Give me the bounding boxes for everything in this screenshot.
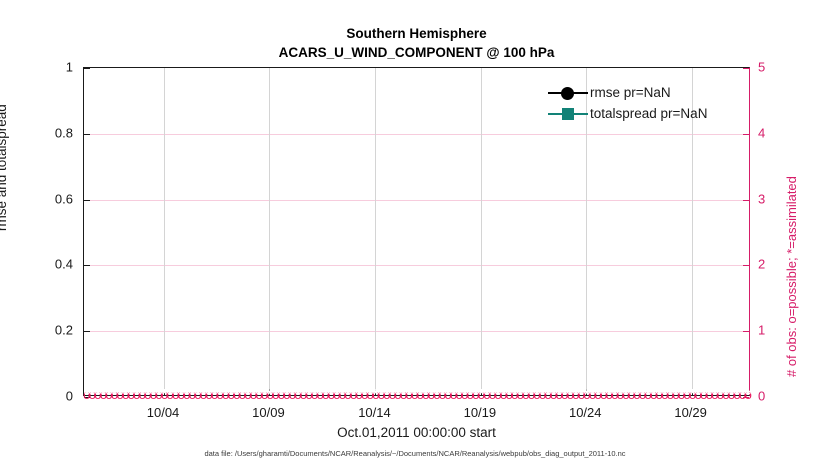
obs-assimilated-marker: * bbox=[493, 386, 504, 403]
obs-possible-marker: o bbox=[176, 386, 187, 403]
obs-possible-marker: o bbox=[548, 386, 559, 403]
grid-line-horizontal bbox=[84, 200, 749, 201]
obs-possible-marker: o bbox=[398, 386, 409, 403]
obs-assimilated-marker: * bbox=[87, 386, 98, 403]
obs-possible-marker: o bbox=[381, 386, 392, 403]
plot-screenshot: Southern Hemisphere ACARS_U_WIND_COMPONE… bbox=[0, 0, 830, 470]
obs-assimilated-marker: * bbox=[81, 386, 92, 403]
chart-title-line-1: Southern Hemisphere bbox=[83, 24, 750, 43]
square-marker-icon bbox=[562, 108, 574, 120]
obs-assimilated-marker: * bbox=[743, 386, 754, 403]
left-tick-label: 0.4 bbox=[29, 257, 73, 272]
obs-assimilated-marker: * bbox=[92, 386, 103, 403]
obs-possible-marker: o bbox=[304, 386, 315, 403]
obs-possible-marker: o bbox=[732, 386, 743, 403]
obs-possible-marker: o bbox=[598, 386, 609, 403]
obs-assimilated-marker: * bbox=[309, 386, 320, 403]
x-tick-label: 10/09 bbox=[252, 405, 285, 420]
obs-assimilated-marker: * bbox=[381, 386, 392, 403]
obs-possible-marker: o bbox=[409, 386, 420, 403]
obs-assimilated-marker: * bbox=[237, 386, 248, 403]
obs-possible-marker: o bbox=[498, 386, 509, 403]
obs-possible-marker: o bbox=[142, 386, 153, 403]
obs-possible-marker: o bbox=[448, 386, 459, 403]
obs-possible-marker: o bbox=[109, 386, 120, 403]
obs-possible-marker: o bbox=[237, 386, 248, 403]
obs-possible-marker: o bbox=[559, 386, 570, 403]
obs-possible-marker: o bbox=[98, 386, 109, 403]
obs-assimilated-marker: * bbox=[565, 386, 576, 403]
obs-assimilated-marker: * bbox=[537, 386, 548, 403]
obs-possible-marker: o bbox=[604, 386, 615, 403]
tick-mark-left bbox=[84, 265, 90, 266]
obs-assimilated-marker: * bbox=[443, 386, 454, 403]
obs-assimilated-marker: * bbox=[98, 386, 109, 403]
obs-possible-marker: o bbox=[443, 386, 454, 403]
tick-mark-left bbox=[84, 331, 90, 332]
obs-possible-marker: o bbox=[326, 386, 337, 403]
obs-assimilated-marker: * bbox=[276, 386, 287, 403]
obs-possible-marker: o bbox=[615, 386, 626, 403]
obs-assimilated-marker: * bbox=[615, 386, 626, 403]
grid-line-horizontal bbox=[84, 134, 749, 135]
obs-assimilated-marker: * bbox=[498, 386, 509, 403]
obs-assimilated-marker: * bbox=[148, 386, 159, 403]
obs-possible-marker: o bbox=[309, 386, 320, 403]
tick-mark-bottom bbox=[269, 389, 270, 395]
obs-possible-marker: o bbox=[715, 386, 726, 403]
obs-possible-marker: o bbox=[192, 386, 203, 403]
obs-possible-marker: o bbox=[204, 386, 215, 403]
obs-possible-marker: o bbox=[220, 386, 231, 403]
obs-possible-marker: o bbox=[376, 386, 387, 403]
obs-possible-marker: o bbox=[698, 386, 709, 403]
obs-assimilated-marker: * bbox=[732, 386, 743, 403]
obs-assimilated-marker: * bbox=[648, 386, 659, 403]
obs-assimilated-marker: * bbox=[254, 386, 265, 403]
obs-assimilated-marker: * bbox=[220, 386, 231, 403]
obs-possible-marker: o bbox=[504, 386, 515, 403]
obs-assimilated-marker: * bbox=[126, 386, 137, 403]
right-tick-label: 3 bbox=[758, 191, 765, 206]
obs-possible-marker: o bbox=[348, 386, 359, 403]
tick-mark-right bbox=[743, 397, 749, 398]
obs-possible-marker: o bbox=[415, 386, 426, 403]
obs-possible-marker: o bbox=[215, 386, 226, 403]
obs-assimilated-marker: * bbox=[670, 386, 681, 403]
obs-assimilated-marker: * bbox=[570, 386, 581, 403]
obs-assimilated-marker: * bbox=[109, 386, 120, 403]
obs-assimilated-marker: * bbox=[348, 386, 359, 403]
obs-possible-marker: o bbox=[620, 386, 631, 403]
obs-possible-marker: o bbox=[704, 386, 715, 403]
obs-assimilated-marker: * bbox=[287, 386, 298, 403]
obs-possible-marker: o bbox=[393, 386, 404, 403]
obs-possible-marker: o bbox=[587, 386, 598, 403]
obs-assimilated-marker: * bbox=[365, 386, 376, 403]
chart-title-line-2: ACARS_U_WIND_COMPONENT @ 100 hPa bbox=[83, 43, 750, 62]
obs-possible-marker: o bbox=[709, 386, 720, 403]
obs-assimilated-marker: * bbox=[465, 386, 476, 403]
right-tick-label: 4 bbox=[758, 125, 765, 140]
obs-assimilated-marker: * bbox=[659, 386, 670, 403]
obs-possible-marker: o bbox=[359, 386, 370, 403]
obs-assimilated-marker: * bbox=[120, 386, 131, 403]
obs-assimilated-marker: * bbox=[637, 386, 648, 403]
obs-assimilated-marker: * bbox=[448, 386, 459, 403]
obs-possible-marker: o bbox=[337, 386, 348, 403]
obs-possible-marker: o bbox=[165, 386, 176, 403]
obs-assimilated-marker: * bbox=[654, 386, 665, 403]
obs-possible-marker: o bbox=[626, 386, 637, 403]
obs-assimilated-marker: * bbox=[304, 386, 315, 403]
obs-possible-marker: o bbox=[720, 386, 731, 403]
obs-possible-marker: o bbox=[320, 386, 331, 403]
obs-possible-marker: o bbox=[643, 386, 654, 403]
obs-possible-marker: o bbox=[532, 386, 543, 403]
obs-assimilated-marker: * bbox=[131, 386, 142, 403]
obs-assimilated-marker: * bbox=[737, 386, 748, 403]
x-tick-label: 10/29 bbox=[674, 405, 707, 420]
right-tick-label: 5 bbox=[758, 60, 765, 75]
obs-possible-marker: o bbox=[543, 386, 554, 403]
obs-possible-marker: o bbox=[726, 386, 737, 403]
obs-assimilated-marker: * bbox=[354, 386, 365, 403]
obs-assimilated-marker: * bbox=[242, 386, 253, 403]
obs-assimilated-marker: * bbox=[343, 386, 354, 403]
obs-assimilated-marker: * bbox=[620, 386, 631, 403]
obs-assimilated-marker: * bbox=[676, 386, 687, 403]
obs-possible-marker: o bbox=[454, 386, 465, 403]
obs-possible-marker: o bbox=[281, 386, 292, 403]
obs-possible-marker: o bbox=[737, 386, 748, 403]
obs-possible-marker: o bbox=[670, 386, 681, 403]
obs-possible-marker: o bbox=[343, 386, 354, 403]
x-tick-label: 10/24 bbox=[569, 405, 602, 420]
obs-possible-marker: o bbox=[431, 386, 442, 403]
obs-assimilated-marker: * bbox=[292, 386, 303, 403]
obs-possible-marker: o bbox=[104, 386, 115, 403]
obs-assimilated-marker: * bbox=[426, 386, 437, 403]
obs-assimilated-marker: * bbox=[176, 386, 187, 403]
obs-assimilated-marker: * bbox=[248, 386, 259, 403]
legend-item[interactable]: totalspread pr=NaN bbox=[548, 103, 707, 124]
tick-mark-bottom bbox=[586, 389, 587, 395]
obs-assimilated-marker: * bbox=[487, 386, 498, 403]
obs-possible-marker: o bbox=[248, 386, 259, 403]
obs-possible-marker: o bbox=[609, 386, 620, 403]
obs-assimilated-marker: * bbox=[393, 386, 404, 403]
obs-possible-marker: o bbox=[637, 386, 648, 403]
tick-mark-bottom bbox=[481, 389, 482, 395]
obs-assimilated-marker: * bbox=[704, 386, 715, 403]
obs-possible-marker: o bbox=[465, 386, 476, 403]
obs-possible-marker: o bbox=[687, 386, 698, 403]
obs-assimilated-marker: * bbox=[470, 386, 481, 403]
obs-assimilated-marker: * bbox=[481, 386, 492, 403]
obs-assimilated-marker: * bbox=[115, 386, 126, 403]
obs-possible-marker: o bbox=[420, 386, 431, 403]
obs-possible-marker: o bbox=[537, 386, 548, 403]
x-tick-label: 10/14 bbox=[358, 405, 391, 420]
obs-possible-marker: o bbox=[170, 386, 181, 403]
obs-assimilated-marker: * bbox=[415, 386, 426, 403]
obs-possible-marker: o bbox=[354, 386, 365, 403]
obs-assimilated-marker: * bbox=[231, 386, 242, 403]
obs-possible-marker: o bbox=[115, 386, 126, 403]
obs-possible-marker: o bbox=[276, 386, 287, 403]
left-axis-title: rmse and totalspread bbox=[0, 104, 9, 231]
data-file-caption: data file: /Users/gharamti/Documents/NCA… bbox=[0, 449, 830, 458]
obs-assimilated-marker: * bbox=[431, 386, 442, 403]
obs-assimilated-marker: * bbox=[270, 386, 281, 403]
obs-possible-marker: o bbox=[242, 386, 253, 403]
left-tick-label: 0.8 bbox=[29, 125, 73, 140]
obs-assimilated-marker: * bbox=[693, 386, 704, 403]
obs-assimilated-marker: * bbox=[598, 386, 609, 403]
grid-line-vertical bbox=[375, 68, 376, 395]
obs-possible-marker: o bbox=[315, 386, 326, 403]
obs-possible-marker: o bbox=[226, 386, 237, 403]
tick-mark-bottom bbox=[164, 389, 165, 395]
obs-possible-marker: o bbox=[209, 386, 220, 403]
obs-possible-marker: o bbox=[148, 386, 159, 403]
obs-assimilated-marker: * bbox=[387, 386, 398, 403]
obs-possible-marker: o bbox=[404, 386, 415, 403]
obs-assimilated-marker: * bbox=[532, 386, 543, 403]
legend-symbol bbox=[548, 83, 588, 103]
obs-assimilated-marker: * bbox=[154, 386, 165, 403]
obs-assimilated-marker: * bbox=[398, 386, 409, 403]
obs-assimilated-marker: * bbox=[192, 386, 203, 403]
obs-assimilated-marker: * bbox=[320, 386, 331, 403]
obs-assimilated-marker: * bbox=[604, 386, 615, 403]
grid-line-horizontal bbox=[84, 331, 749, 332]
obs-assimilated-marker: * bbox=[459, 386, 470, 403]
obs-assimilated-marker: * bbox=[587, 386, 598, 403]
obs-assimilated-marker: * bbox=[609, 386, 620, 403]
obs-assimilated-marker: * bbox=[715, 386, 726, 403]
obs-assimilated-marker: * bbox=[226, 386, 237, 403]
obs-assimilated-marker: * bbox=[142, 386, 153, 403]
chart-legend: rmse pr=NaNtotalspread pr=NaN bbox=[548, 82, 707, 124]
obs-assimilated-marker: * bbox=[409, 386, 420, 403]
obs-assimilated-marker: * bbox=[281, 386, 292, 403]
obs-possible-marker: o bbox=[92, 386, 103, 403]
obs-assimilated-marker: * bbox=[137, 386, 148, 403]
tick-mark-right bbox=[743, 68, 749, 69]
obs-possible-marker: o bbox=[676, 386, 687, 403]
obs-assimilated-marker: * bbox=[526, 386, 537, 403]
grid-line-vertical bbox=[481, 68, 482, 395]
obs-assimilated-marker: * bbox=[104, 386, 115, 403]
obs-assimilated-marker: * bbox=[337, 386, 348, 403]
left-tick-label: 0 bbox=[29, 389, 73, 404]
obs-possible-marker: o bbox=[665, 386, 676, 403]
obs-assimilated-marker: * bbox=[709, 386, 720, 403]
obs-assimilated-marker: * bbox=[376, 386, 387, 403]
obs-possible-marker: o bbox=[693, 386, 704, 403]
obs-assimilated-marker: * bbox=[720, 386, 731, 403]
legend-label: rmse pr=NaN bbox=[588, 85, 671, 100]
tick-mark-right bbox=[743, 134, 749, 135]
obs-possible-marker: o bbox=[254, 386, 265, 403]
obs-possible-marker: o bbox=[137, 386, 148, 403]
obs-assimilated-marker: * bbox=[198, 386, 209, 403]
obs-possible-marker: o bbox=[181, 386, 192, 403]
obs-possible-marker: o bbox=[632, 386, 643, 403]
obs-possible-marker: o bbox=[331, 386, 342, 403]
legend-item[interactable]: rmse pr=NaN bbox=[548, 82, 707, 103]
obs-assimilated-marker: * bbox=[593, 386, 604, 403]
obs-assimilated-marker: * bbox=[181, 386, 192, 403]
obs-assimilated-marker: * bbox=[331, 386, 342, 403]
tick-mark-right bbox=[743, 265, 749, 266]
obs-assimilated-marker: * bbox=[543, 386, 554, 403]
obs-possible-marker: o bbox=[365, 386, 376, 403]
left-tick-label: 1 bbox=[29, 60, 73, 75]
obs-possible-marker: o bbox=[426, 386, 437, 403]
obs-possible-marker: o bbox=[81, 386, 92, 403]
obs-possible-marker: o bbox=[570, 386, 581, 403]
obs-assimilated-marker: * bbox=[665, 386, 676, 403]
obs-possible-marker: o bbox=[387, 386, 398, 403]
obs-assimilated-marker: * bbox=[209, 386, 220, 403]
obs-assimilated-marker: * bbox=[626, 386, 637, 403]
obs-assimilated-marker: * bbox=[520, 386, 531, 403]
obs-possible-marker: o bbox=[87, 386, 98, 403]
tick-mark-right bbox=[743, 200, 749, 201]
obs-possible-marker: o bbox=[120, 386, 131, 403]
obs-assimilated-marker: * bbox=[559, 386, 570, 403]
obs-possible-marker: o bbox=[520, 386, 531, 403]
obs-possible-marker: o bbox=[509, 386, 520, 403]
obs-assimilated-marker: * bbox=[187, 386, 198, 403]
circle-marker-icon bbox=[561, 87, 574, 100]
legend-label: totalspread pr=NaN bbox=[588, 106, 707, 121]
obs-assimilated-marker: * bbox=[643, 386, 654, 403]
obs-possible-marker: o bbox=[554, 386, 565, 403]
obs-assimilated-marker: * bbox=[298, 386, 309, 403]
right-tick-label: 0 bbox=[758, 389, 765, 404]
obs-possible-marker: o bbox=[187, 386, 198, 403]
obs-assimilated-marker: * bbox=[165, 386, 176, 403]
tick-mark-bottom bbox=[375, 389, 376, 395]
obs-assimilated-marker: * bbox=[204, 386, 215, 403]
grid-line-vertical bbox=[269, 68, 270, 395]
left-tick-label: 0.6 bbox=[29, 191, 73, 206]
obs-possible-marker: o bbox=[526, 386, 537, 403]
tick-mark-left bbox=[84, 397, 90, 398]
obs-assimilated-marker: * bbox=[504, 386, 515, 403]
obs-possible-marker: o bbox=[198, 386, 209, 403]
legend-symbol bbox=[548, 104, 588, 124]
obs-possible-marker: o bbox=[654, 386, 665, 403]
obs-possible-marker: o bbox=[481, 386, 492, 403]
obs-possible-marker: o bbox=[131, 386, 142, 403]
obs-possible-marker: o bbox=[154, 386, 165, 403]
obs-assimilated-marker: * bbox=[315, 386, 326, 403]
grid-line-vertical bbox=[164, 68, 165, 395]
obs-possible-marker: o bbox=[126, 386, 137, 403]
tick-mark-right bbox=[743, 331, 749, 332]
right-tick-label: 1 bbox=[758, 323, 765, 338]
obs-possible-marker: o bbox=[270, 386, 281, 403]
tick-mark-left bbox=[84, 68, 90, 69]
obs-assimilated-marker: * bbox=[726, 386, 737, 403]
right-tick-label: 2 bbox=[758, 257, 765, 272]
x-tick-label: 10/04 bbox=[147, 405, 180, 420]
obs-assimilated-marker: * bbox=[359, 386, 370, 403]
obs-possible-marker: o bbox=[459, 386, 470, 403]
left-tick-label: 0.2 bbox=[29, 323, 73, 338]
obs-assimilated-marker: * bbox=[554, 386, 565, 403]
obs-possible-marker: o bbox=[743, 386, 754, 403]
tick-mark-left bbox=[84, 200, 90, 201]
obs-assimilated-marker: * bbox=[326, 386, 337, 403]
obs-possible-marker: o bbox=[437, 386, 448, 403]
right-axis-title: # of obs: o=possible; *=assimilated bbox=[784, 176, 799, 377]
obs-assimilated-marker: * bbox=[548, 386, 559, 403]
obs-assimilated-marker: * bbox=[437, 386, 448, 403]
obs-possible-marker: o bbox=[292, 386, 303, 403]
obs-possible-marker: o bbox=[231, 386, 242, 403]
obs-assimilated-marker: * bbox=[698, 386, 709, 403]
obs-possible-marker: o bbox=[487, 386, 498, 403]
obs-possible-marker: o bbox=[470, 386, 481, 403]
obs-assimilated-marker: * bbox=[632, 386, 643, 403]
bottom-axis-title: Oct.01,2011 00:00:00 start bbox=[83, 425, 750, 440]
obs-possible-marker: o bbox=[593, 386, 604, 403]
obs-possible-marker: o bbox=[287, 386, 298, 403]
obs-assimilated-marker: * bbox=[509, 386, 520, 403]
obs-assimilated-marker: * bbox=[404, 386, 415, 403]
chart-title: Southern Hemisphere ACARS_U_WIND_COMPONE… bbox=[83, 24, 750, 62]
obs-assimilated-marker: * bbox=[515, 386, 526, 403]
x-tick-label: 10/19 bbox=[464, 405, 497, 420]
obs-assimilated-marker: * bbox=[420, 386, 431, 403]
obs-possible-marker: o bbox=[565, 386, 576, 403]
obs-possible-marker: o bbox=[648, 386, 659, 403]
obs-assimilated-marker: * bbox=[215, 386, 226, 403]
observation-marker-row: o*o*o*o*o*o*o*o*o*o*o*o*o*o*o*o*o*o*o*o*… bbox=[84, 386, 749, 403]
obs-possible-marker: o bbox=[298, 386, 309, 403]
obs-assimilated-marker: * bbox=[454, 386, 465, 403]
tick-mark-left bbox=[84, 134, 90, 135]
obs-assimilated-marker: * bbox=[170, 386, 181, 403]
obs-possible-marker: o bbox=[659, 386, 670, 403]
obs-assimilated-marker: * bbox=[687, 386, 698, 403]
obs-possible-marker: o bbox=[515, 386, 526, 403]
obs-possible-marker: o bbox=[493, 386, 504, 403]
grid-line-horizontal bbox=[84, 265, 749, 266]
tick-mark-bottom bbox=[692, 389, 693, 395]
